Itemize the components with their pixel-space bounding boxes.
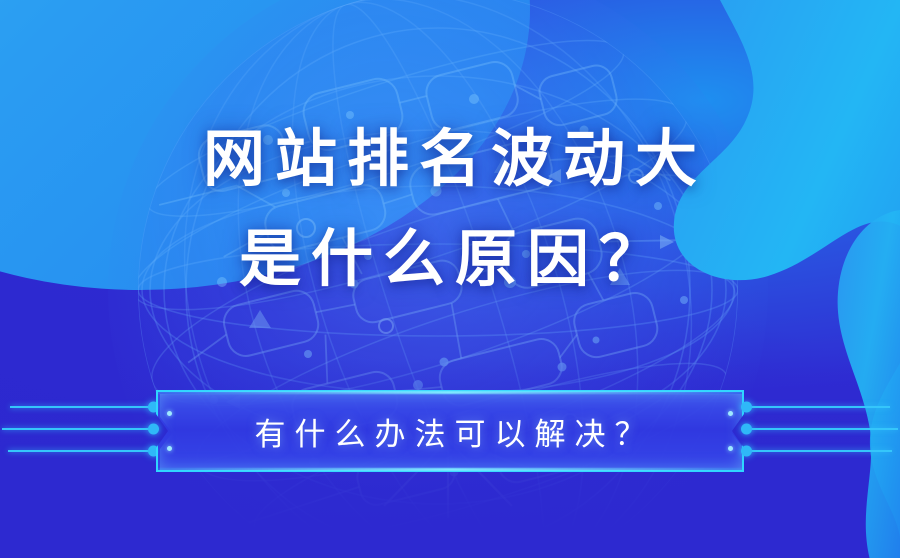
decor-rule-right-1 <box>742 406 890 408</box>
decor-dot-icon <box>741 424 752 435</box>
decor-dot-icon <box>741 402 752 413</box>
title-line-2: 是什么原因？ <box>0 228 900 290</box>
subtitle-text: 有什么办法可以解决？ <box>246 409 655 454</box>
decor-rule-right-2 <box>742 428 898 430</box>
title-line-1: 网站排名波动大 <box>0 128 900 190</box>
seo-promo-banner: 网站排名波动大 是什么原因？ 有什么办法可以解决？ <box>0 0 900 558</box>
plate-nub-icon <box>728 446 733 451</box>
plate-nub-icon <box>167 446 172 451</box>
plate-nub-icon <box>728 411 733 416</box>
subtitle-plate: 有什么办法可以解决？ <box>156 390 744 472</box>
decor-rule-right-3 <box>742 450 892 452</box>
decor-dot-icon <box>741 446 752 457</box>
plate-bottom-glow <box>158 468 742 471</box>
plate-top-glow <box>158 391 742 394</box>
plate-nub-icon <box>167 411 172 416</box>
right-decor-rules <box>742 388 900 470</box>
title-block: 网站排名波动大 是什么原因？ <box>0 128 900 290</box>
